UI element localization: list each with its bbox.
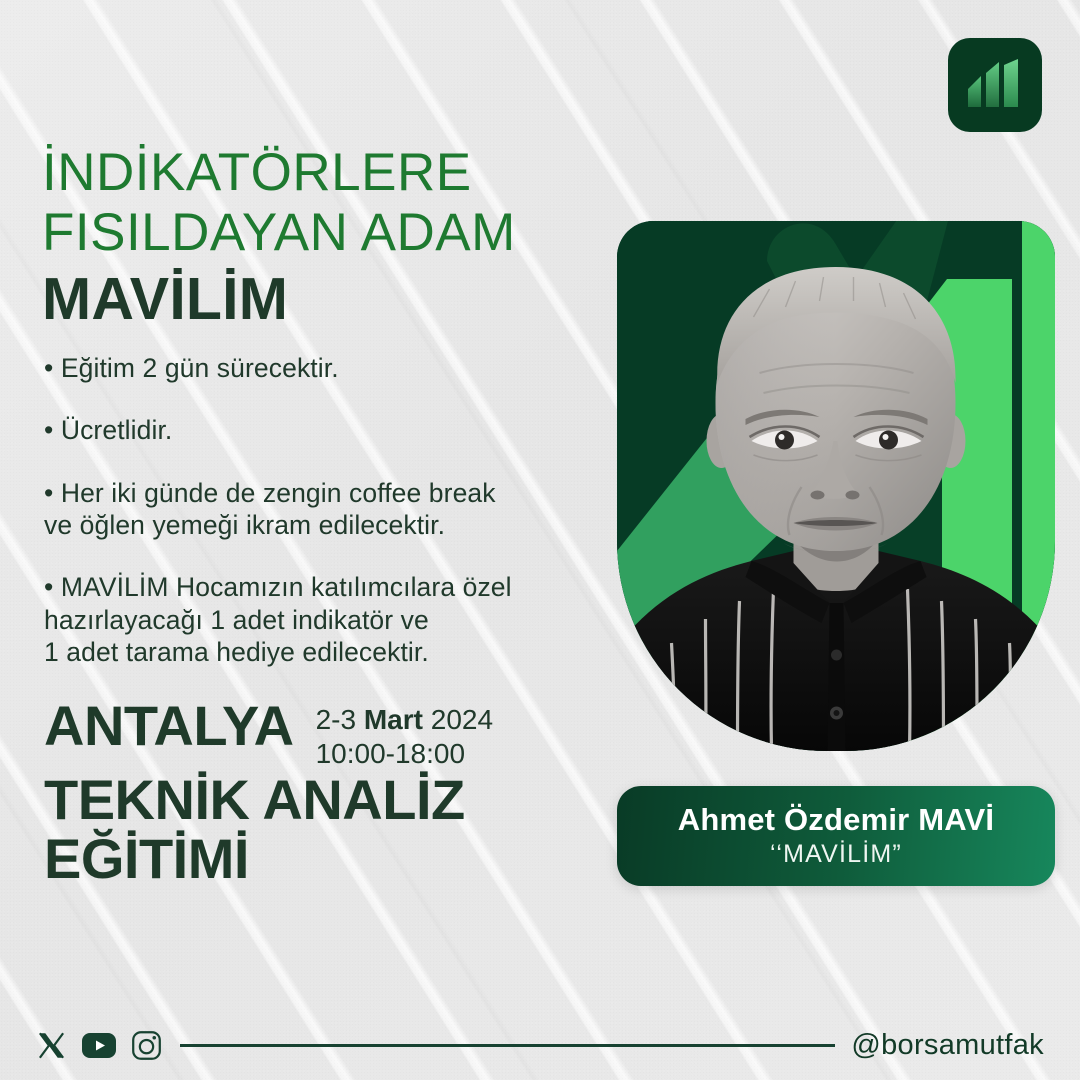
social-icons: [36, 1030, 162, 1061]
list-item: • Eğitim 2 gün sürecektir.: [44, 352, 599, 384]
youtube-icon[interactable]: [81, 1031, 117, 1060]
headline-line-2: FISILDAYAN ADAM: [42, 203, 602, 263]
event-title-first-row: ANTALYA 2-3 Mart 2024 10:00-18:00: [44, 697, 614, 771]
headline-line-1: İNDİKATÖRLERE: [42, 143, 602, 203]
instagram-icon[interactable]: [131, 1030, 162, 1061]
bullet-list: • Eğitim 2 gün sürecektir. • Ücretlidir.…: [44, 352, 599, 668]
speaker-nameplate: Ahmet Özdemir MAVİ ‘‘MAVİLİM”: [617, 786, 1055, 886]
event-title-line-1: ANTALYA: [44, 697, 294, 755]
event-date: 2-3 Mart 2024: [316, 703, 493, 737]
list-item: • Ücretlidir.: [44, 414, 599, 446]
event-title-line-2: TEKNİK ANALİZ: [44, 771, 614, 829]
list-item: • MAVİLİM Hocamızın katılımcılara özelha…: [44, 571, 599, 668]
event-time: 10:00-18:00: [316, 737, 493, 771]
headline-block: İNDİKATÖRLERE FISILDAYAN ADAM MAVİLİM: [42, 143, 602, 334]
headline-emphasis: MAVİLİM: [42, 265, 602, 335]
speaker-photo: [634, 251, 1039, 751]
speaker-portrait-frame: [617, 221, 1055, 751]
footer-divider: [180, 1044, 835, 1047]
x-twitter-icon[interactable]: [36, 1030, 67, 1061]
speaker-nickname: ‘‘MAVİLİM”: [770, 840, 902, 869]
list-item: • Her iki günde de zengin coffee breakve…: [44, 477, 599, 542]
social-handle: @borsamutfak: [851, 1029, 1044, 1062]
event-title-block: ANTALYA 2-3 Mart 2024 10:00-18:00 TEKNİK…: [44, 697, 614, 888]
event-title-line-3: EĞİTİMİ: [44, 830, 614, 888]
footer: @borsamutfak: [36, 1022, 1044, 1068]
speaker-name: Ahmet Özdemir MAVİ: [678, 803, 995, 837]
event-datetime: 2-3 Mart 2024 10:00-18:00: [316, 703, 493, 771]
chart-bars-m-logo-icon: [966, 57, 1024, 113]
brand-logo: [948, 38, 1042, 132]
